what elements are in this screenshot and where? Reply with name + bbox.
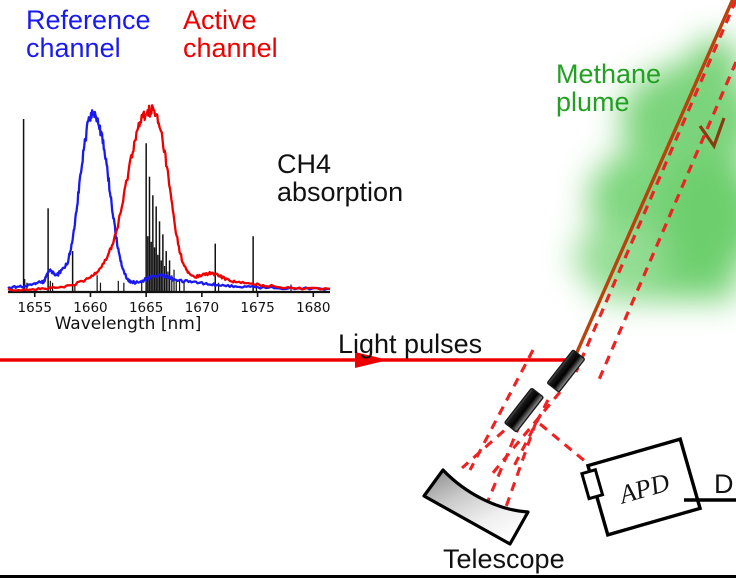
bottom-border-rule [0,575,736,578]
methane-plume-label: Methane plume [556,60,661,116]
plot-x-axis-title: Wavelength [nm] [55,314,202,334]
spectrum-plot: 165516601665167016751680 Wavelength [nm] [8,105,330,334]
light-pulses-label: Light pulses [338,330,482,358]
svg-text:1675: 1675 [240,300,274,316]
light-pulse-beam [0,352,575,372]
figure-canvas: APD 165516601665167016751680 Wavelength … [0,0,736,580]
active-channel-label: Active channel [183,6,278,62]
apd-detector: APD [580,439,700,537]
telescope-label: Telescope [443,545,565,573]
beam-splitter-mirror [547,350,585,392]
svg-text:1680: 1680 [296,300,330,316]
detector-label-partial: D [714,470,734,498]
svg-text:1655: 1655 [18,300,52,316]
ch4-absorption-lines [24,119,291,292]
telescope-mirror [424,470,528,544]
ch4-absorption-label: CH4 absorption [277,150,403,206]
reference-channel-label: Reference channel [26,6,151,62]
